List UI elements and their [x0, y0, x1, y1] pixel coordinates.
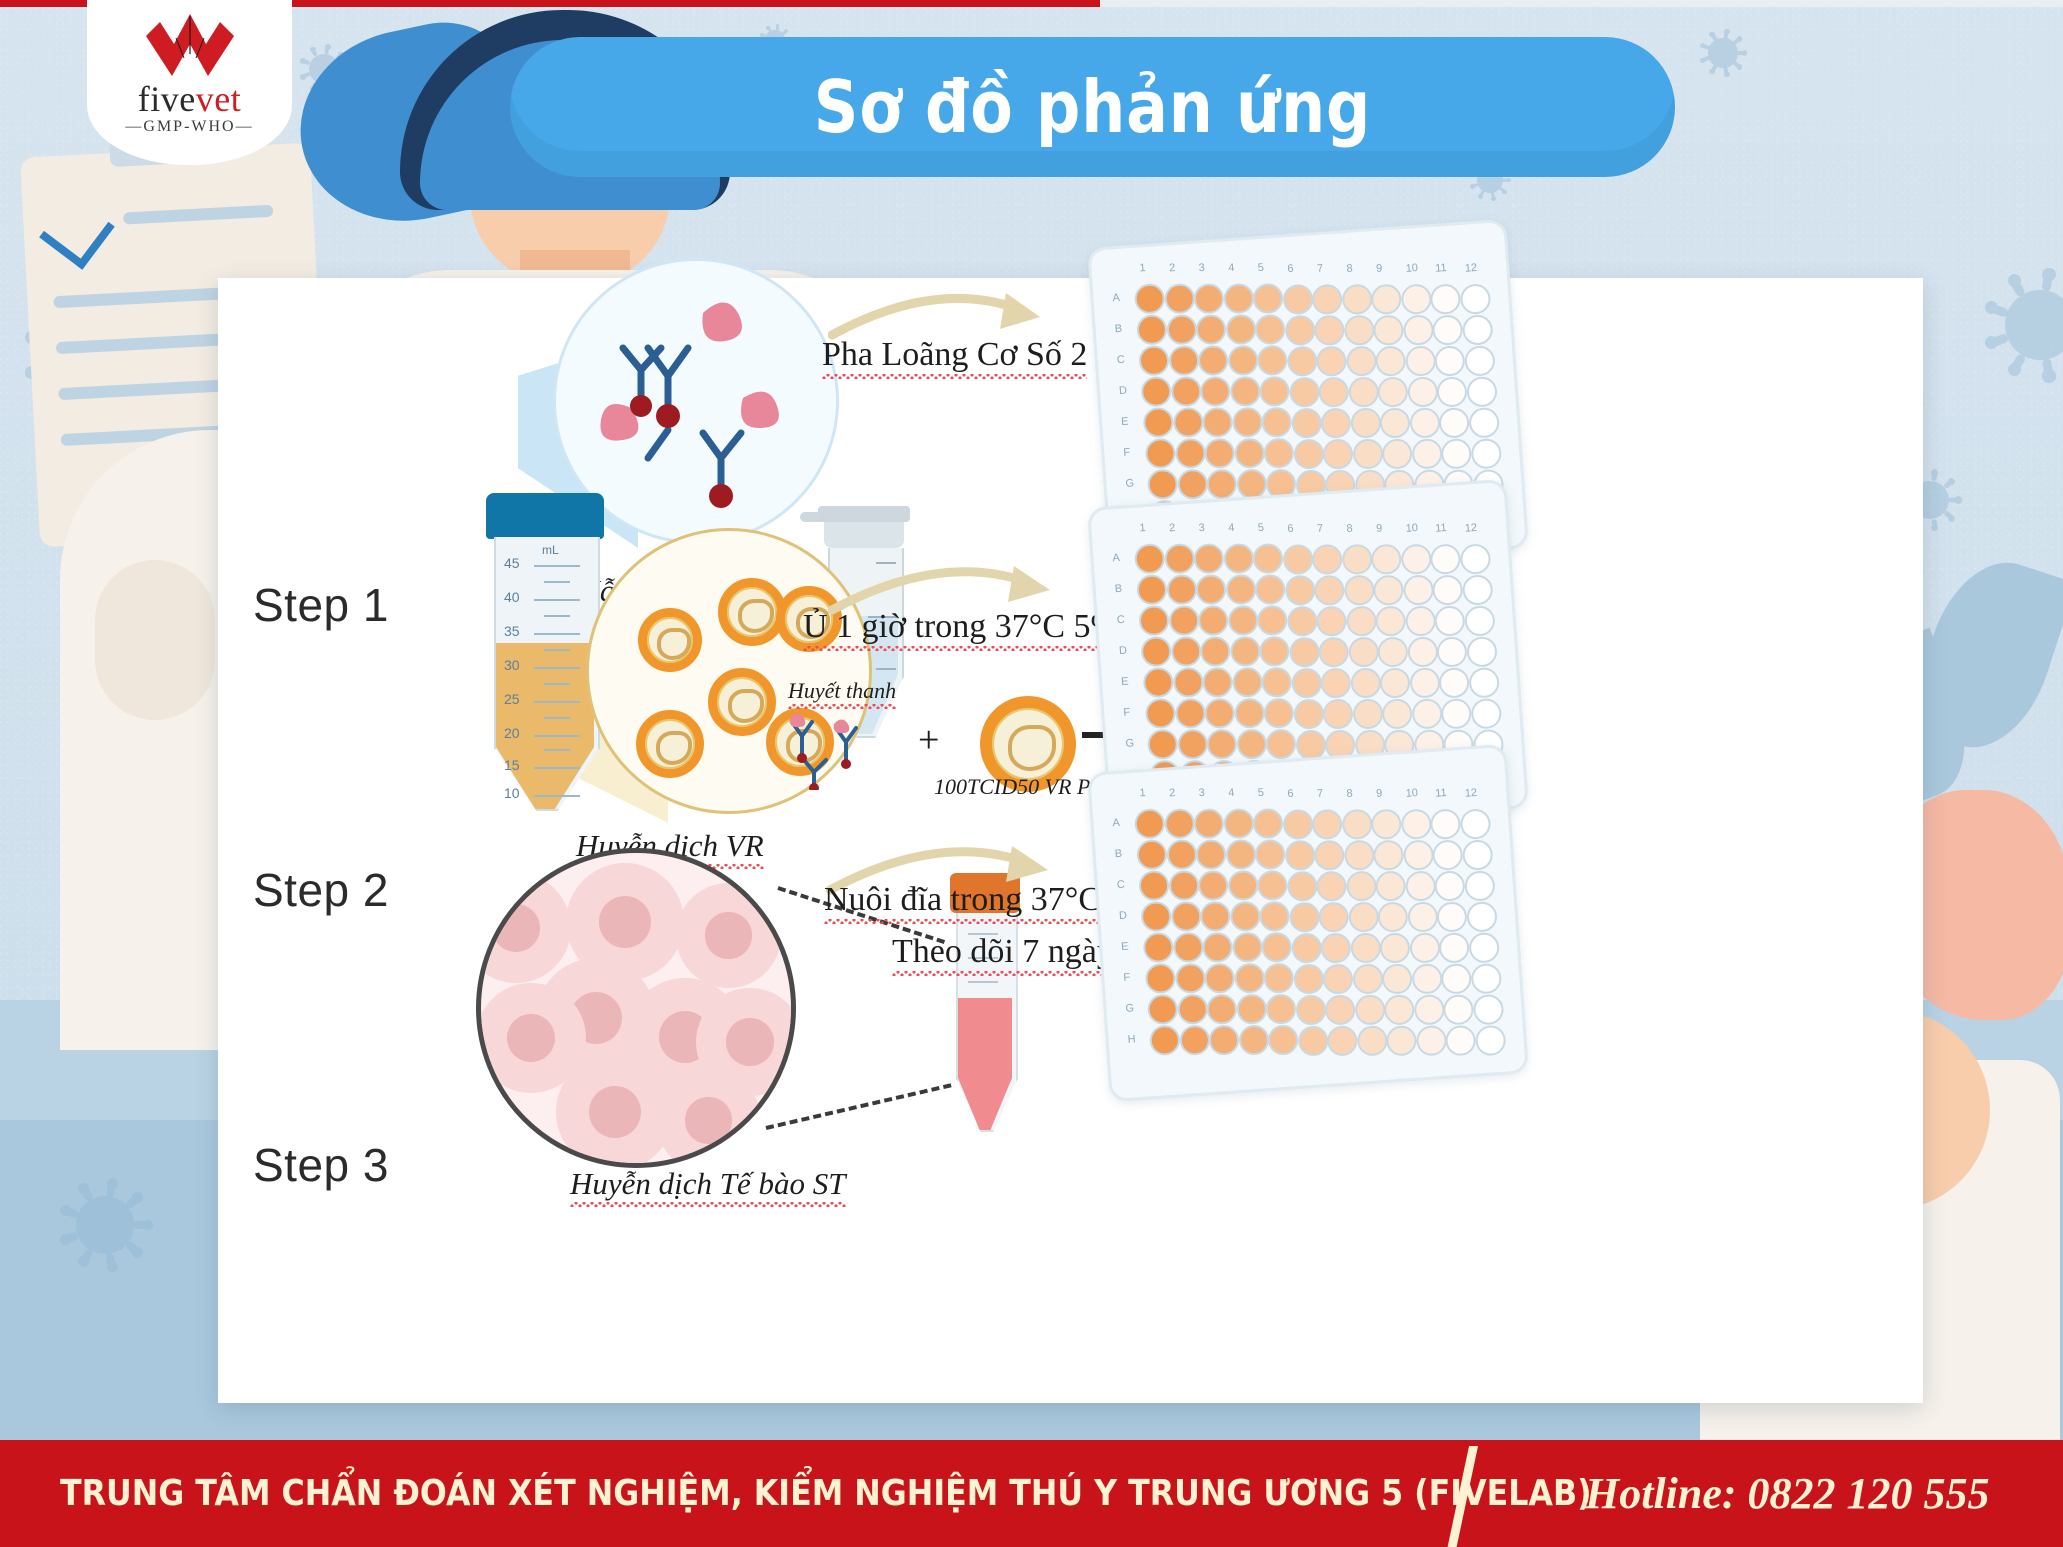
plate-column-label: 7 [1317, 262, 1324, 274]
plate-column-label: 10 [1405, 262, 1418, 275]
plate-row-label: D [1119, 385, 1128, 398]
footer-hotline[interactable]: Hotline: 0822 120 555 [1585, 1440, 1990, 1547]
plate-column-label: 1 [1139, 522, 1146, 534]
page-title: Sơ đồ phản ứng [592, 37, 1594, 177]
plate-row-label: G [1125, 477, 1134, 490]
plate-row-label: G [1125, 1002, 1134, 1015]
clipboard-line [123, 205, 273, 225]
plate-row-label: D [1119, 645, 1128, 658]
plate-row-label: A [1112, 552, 1120, 564]
plate-row-label: B [1114, 583, 1122, 595]
plate-column-label: 3 [1198, 787, 1205, 799]
plate-row-label: F [1123, 707, 1131, 719]
plate-column-label: 8 [1346, 522, 1353, 534]
plate-row-label: C [1116, 614, 1125, 627]
cell-icon [676, 883, 781, 988]
step-1-label: Step 1 [253, 578, 389, 632]
page-title-banner: Sơ đồ phản ứng [510, 37, 1675, 177]
plate-column-label: 3 [1198, 522, 1205, 534]
plate-row-label: C [1116, 354, 1125, 367]
plate-column-label: 11 [1435, 787, 1447, 800]
plate-row-label: E [1121, 941, 1129, 953]
check-icon [39, 194, 115, 270]
step-3-label: Step 3 [253, 1138, 389, 1192]
virus-decoration-icon [1700, 30, 1746, 76]
step-2-reaction-serum-label: Huyết thanh [788, 678, 896, 704]
brand-logo-panel: fivevet —GMP-WHO— [87, 0, 292, 165]
plate-column-label: 6 [1287, 262, 1294, 274]
virus-particle-icon [638, 608, 702, 672]
free-antibody-icon [774, 710, 894, 790]
plate-row-label: C [1116, 879, 1125, 892]
plate-column-label: 11 [1435, 262, 1447, 275]
plate-row-label: A [1112, 292, 1120, 304]
leader-line [766, 1083, 952, 1130]
plate-row-label: F [1123, 447, 1131, 459]
diagram-card: Step 1 [218, 278, 1923, 1403]
plate-column-label: 9 [1376, 522, 1383, 534]
plate-row-label: D [1119, 910, 1128, 923]
plate-column-label: 2 [1169, 787, 1176, 799]
plate-column-label: 4 [1228, 522, 1235, 534]
plate-column-label: 8 [1346, 262, 1353, 274]
step-1-action-text: Pha Loãng Cơ Số 2 [822, 336, 1087, 374]
plate-column-label: 10 [1405, 787, 1418, 800]
brand-certification: —GMP-WHO— [87, 118, 292, 136]
step-3-sample-caption: Huyễn dịch Tế bào ST [570, 1166, 846, 1202]
plate-column-label: 12 [1464, 262, 1477, 275]
plate-column-label: 5 [1257, 522, 1264, 534]
plate-column-label: 12 [1464, 787, 1477, 800]
cell-icon [476, 873, 571, 983]
cell-culture-magnification-icon [476, 848, 796, 1168]
plate-column-label: 1 [1139, 262, 1146, 274]
plate-column-label: 6 [1287, 522, 1294, 534]
plate-column-label: 9 [1376, 787, 1383, 799]
plate-row-label: G [1125, 737, 1134, 750]
plate-column-label: 12 [1464, 522, 1477, 535]
top-strip-gap [1100, 0, 2063, 7]
cell-icon [656, 1068, 761, 1168]
virus-particle-icon [636, 710, 704, 778]
step-2-label: Step 2 [253, 863, 389, 917]
poster-root: fivevet —GMP-WHO— Sơ đồ phản ứng Step 1 [0, 0, 2063, 1547]
plate-column-label: 6 [1287, 787, 1294, 799]
brand-name-part2: vet [196, 79, 241, 119]
plate-column-label: 11 [1435, 522, 1447, 535]
doctor-hand-left [95, 560, 215, 720]
virus-decoration-icon [60, 1180, 150, 1270]
plate-column-label: 3 [1198, 262, 1205, 274]
step-1-arrow-icon [828, 283, 1048, 343]
brand-wordmark: fivevet [87, 78, 292, 120]
plate-column-label: 1 [1139, 787, 1146, 799]
plate-row-label: F [1123, 972, 1131, 984]
fivevet-chevron-logo-icon [130, 14, 250, 76]
plate-row-label: E [1121, 676, 1129, 688]
plate-row-label: H [1127, 1033, 1136, 1046]
footer-center-name: TRUNG TÂM CHẨN ĐOÁN XÉT NGHIỆM, KIỂM NGH… [60, 1440, 1592, 1547]
plate-column-label: 5 [1257, 262, 1264, 274]
plate-column-label: 7 [1317, 522, 1324, 534]
plate-column-label: 4 [1228, 262, 1235, 274]
step-2-reaction-plus: + [918, 718, 939, 762]
plate-column-label: 2 [1169, 522, 1176, 534]
plate-column-label: 7 [1317, 787, 1324, 799]
plate-row-label: B [1114, 323, 1122, 335]
96-well-plate-icon: 123456789101112ABCDEFGH [1087, 744, 1529, 1102]
plate-row-label: A [1112, 817, 1120, 829]
brand-name-part1: five [138, 79, 196, 119]
plate-column-label: 2 [1169, 262, 1176, 274]
clipboard-line [58, 379, 238, 400]
plate-column-label: 10 [1405, 522, 1418, 535]
virus-particle-icon [708, 668, 776, 736]
step-3-action-line2: Theo dõi 7 ngày [892, 933, 1114, 971]
plate-column-label: 9 [1376, 262, 1383, 274]
footer-bar: TRUNG TÂM CHẨN ĐOÁN XÉT NGHIỆM, KIỂM NGH… [0, 1440, 2063, 1547]
virus-decoration-icon [1985, 270, 2063, 380]
plate-row-label: E [1121, 416, 1129, 428]
plate-column-label: 5 [1257, 787, 1264, 799]
plate-column-label: 8 [1346, 787, 1353, 799]
plate-row-label: B [1114, 848, 1122, 860]
plate-column-label: 4 [1228, 787, 1235, 799]
